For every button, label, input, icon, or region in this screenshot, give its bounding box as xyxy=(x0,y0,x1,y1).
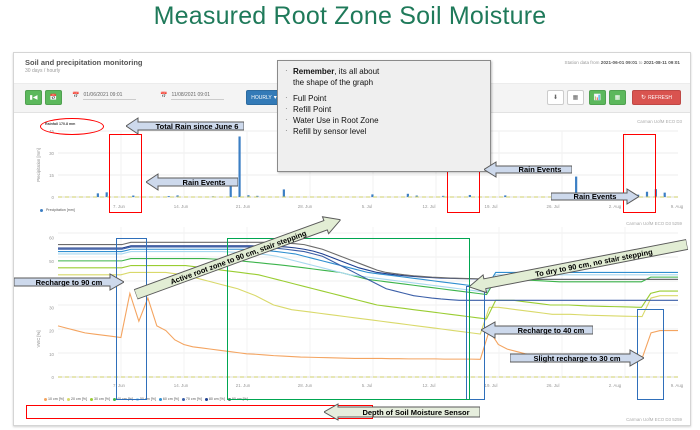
table-icon: ▦ xyxy=(573,95,579,101)
station-data-range: Station data from 2021-06-01 09:01 to 20… xyxy=(565,60,680,65)
legend-item[interactable]: 40 cm [%] xyxy=(113,397,133,401)
legend-item[interactable]: 90 cm [%] xyxy=(228,397,248,401)
legend-item-label: 80 cm [%] xyxy=(209,397,225,401)
precip-xtick: 9. Aug xyxy=(671,204,684,209)
precip-bar xyxy=(97,193,99,197)
vwc-xtick: 21. Jun xyxy=(236,383,251,388)
legend-item-label: 30 cm [%] xyxy=(94,397,110,401)
skip-back-icon: ▮◀ xyxy=(30,95,38,101)
grid-icon: ▦ xyxy=(615,95,621,101)
precip-xtick: 21. Jun xyxy=(236,204,251,209)
legend-item-label: 20 cm [%] xyxy=(71,397,87,401)
vwc-axis-label: VWC [%] xyxy=(36,331,41,348)
refresh-icon: ↻ xyxy=(641,95,646,101)
precip-xtick: 14. Jun xyxy=(174,204,189,209)
refresh-label: REFRESH xyxy=(648,95,672,101)
precip-xtick: 19. Jul xyxy=(485,204,498,209)
legend-item[interactable]: 20 cm [%] xyxy=(67,397,87,401)
vwc-xtick: 14. Jun xyxy=(174,383,189,388)
calendar-icon: 📅 xyxy=(50,95,57,101)
vwc-xtick: 2. Aug xyxy=(609,383,622,388)
vwc-watermark-top: Carman UofM ECO D3 5259 xyxy=(626,221,682,226)
interval-label: HOURLY xyxy=(251,95,271,101)
precip-bar xyxy=(106,192,108,197)
start-date-field[interactable]: 📅 01/06/2021 09:01 xyxy=(72,92,136,100)
precip-xtick: 2. Aug xyxy=(609,204,622,209)
station-prefix: Station data from xyxy=(565,60,600,65)
download-icon: ⬇ xyxy=(553,95,558,101)
station-from: 2021-06-01 09:01 xyxy=(601,60,638,65)
vwc-xtick: 28. Jun xyxy=(298,383,313,388)
legend-color-dot xyxy=(205,398,208,401)
station-to: 2021-08-11 09:01 xyxy=(644,60,680,65)
precip-legend: Precipitation [mm] xyxy=(40,208,75,212)
precip-xtick: 7. Jun xyxy=(113,204,126,209)
vwc-line xyxy=(58,266,678,319)
precip-xticks: 7. Jun14. Jun21. Jun28. Jun5. Jul12. Jul… xyxy=(113,204,684,209)
legend-item[interactable]: 60 cm [%] xyxy=(159,397,179,401)
precipitation-chart: Carman UofM ECO D3 xyxy=(14,113,690,219)
legend-item[interactable]: 80 cm [%] xyxy=(205,397,225,401)
vwc-line xyxy=(58,242,678,279)
app-subtitle: 30 days / hourly xyxy=(25,68,60,74)
legend-item-label: 40 cm [%] xyxy=(117,397,133,401)
vwc-ytick: 40 xyxy=(49,282,54,287)
end-date-field[interactable]: 📅 11/08/2021 09:01 xyxy=(160,92,224,100)
precip-bar xyxy=(283,189,285,197)
precip-legend-dot xyxy=(40,209,43,212)
precip-bar xyxy=(664,193,666,197)
precip-xtick: 26. Jul xyxy=(547,204,560,209)
calendar-small-icon-2: 📅 xyxy=(160,93,167,99)
soil-moisture-chart: Carman UofM ECO D3 5259 Carman UofM ECO … xyxy=(14,219,690,424)
grid-view-button[interactable]: ▦ xyxy=(609,90,626,105)
legend-color-dot xyxy=(113,398,116,401)
precip-watermark: Carman UofM ECO D3 xyxy=(637,119,682,124)
chevron-down-icon: ▾ xyxy=(274,95,277,101)
vwc-xticks: 7. Jun14. Jun21. Jun28. Jun5. Jul12. Jul… xyxy=(113,383,684,388)
legend-color-dot xyxy=(136,398,139,401)
precip-xtick: 5. Jul xyxy=(362,204,373,209)
precip-bar xyxy=(238,136,240,197)
vwc-yticks: 0102030405060 xyxy=(49,236,54,380)
precip-bar xyxy=(469,195,471,197)
svg-text:15: 15 xyxy=(49,173,54,178)
legend-color-dot xyxy=(44,398,47,401)
vwc-legend: 10 cm [%]20 cm [%]30 cm [%]40 cm [%]50 c… xyxy=(44,397,248,401)
svg-text:30: 30 xyxy=(49,151,54,156)
precip-xtick: 28. Jun xyxy=(298,204,313,209)
vwc-xtick: 19. Jul xyxy=(485,383,498,388)
page-title: Measured Root Zone Soil Moisture xyxy=(0,2,700,31)
precip-bar xyxy=(168,196,170,197)
legend-item-label: 60 cm [%] xyxy=(163,397,179,401)
refresh-button[interactable]: ↻ REFRESH xyxy=(632,90,681,105)
vwc-ytick: 30 xyxy=(49,305,54,310)
precip-bar xyxy=(646,192,648,197)
station-mid: to xyxy=(639,60,643,65)
legend-color-dot xyxy=(159,398,162,401)
legend-color-dot xyxy=(228,398,231,401)
legend-item[interactable]: 70 cm [%] xyxy=(182,397,202,401)
vwc-line xyxy=(58,259,678,295)
vwc-ytick: 10 xyxy=(49,352,54,357)
svg-text:Precipitation [mm]: Precipitation [mm] xyxy=(36,148,41,182)
vwc-line xyxy=(58,293,678,359)
vwc-xtick: 7. Jun xyxy=(113,383,126,388)
precip-bars xyxy=(97,136,666,197)
vwc-line xyxy=(58,252,678,293)
app-window: Soil and precipitation monitoring 30 day… xyxy=(13,52,691,426)
table-view-button[interactable]: ▦ xyxy=(567,90,584,105)
app-header: Soil and precipitation monitoring 30 day… xyxy=(14,53,690,84)
legend-color-dot xyxy=(90,398,93,401)
legend-item-label: 70 cm [%] xyxy=(186,397,202,401)
vwc-ytick: 20 xyxy=(49,329,54,334)
app-title: Soil and precipitation monitoring xyxy=(25,58,143,67)
end-date-value: 11/08/2021 09:01 xyxy=(171,92,224,100)
precip-bar xyxy=(132,196,134,197)
vwc-xtick: 26. Jul xyxy=(547,383,560,388)
vwc-series xyxy=(58,242,678,359)
precip-yticks: 45 30 15 0 Precipitation [mm] xyxy=(36,129,55,200)
vwc-line xyxy=(58,247,678,300)
precip-svg: 45 30 15 0 Precipitation [mm] 7. Jun14. … xyxy=(14,113,690,219)
vwc-ytick: 50 xyxy=(49,259,54,264)
jump-start-button[interactable]: ▮◀ xyxy=(25,90,42,105)
vwc-watermark-bottom: Carman UofM ECO D3 5259 xyxy=(626,417,682,422)
legend-item-label: 90 cm [%] xyxy=(232,397,248,401)
precip-xtick: 12. Jul xyxy=(423,204,436,209)
toolbar: ▮◀ 📅 📅 01/06/2021 09:01 📅 11/08/2021 09:… xyxy=(14,84,690,113)
download-button[interactable]: ⬇ xyxy=(547,90,564,105)
precip-bar xyxy=(655,189,657,197)
vwc-ytick: 0 xyxy=(52,375,55,380)
svg-text:0: 0 xyxy=(52,195,55,200)
precip-bar xyxy=(637,195,639,197)
legend-item-label: 50 cm [%] xyxy=(140,397,156,401)
bar-chart-icon: 📊 xyxy=(594,95,601,101)
legend-color-dot xyxy=(67,398,70,401)
calendar-small-icon: 📅 xyxy=(72,93,79,99)
calendar-range-button[interactable]: 📅 xyxy=(45,90,62,105)
slide: Measured Root Zone Soil Moisture Soil an… xyxy=(0,0,700,430)
legend-item[interactable]: 30 cm [%] xyxy=(90,397,110,401)
vwc-svg: 0102030405060 VWC [%] 7. Jun14. Jun21. J… xyxy=(14,219,690,424)
precip-gridlines xyxy=(58,131,678,197)
vwc-ytick: 60 xyxy=(49,236,54,241)
svg-text:45: 45 xyxy=(49,129,54,134)
legend-item[interactable]: 50 cm [%] xyxy=(136,397,156,401)
precip-legend-label: Precipitation [mm] xyxy=(46,208,75,212)
chart-view-button[interactable]: 📊 xyxy=(589,90,606,105)
vwc-xtick: 12. Jul xyxy=(423,383,436,388)
precip-bar xyxy=(575,177,577,197)
precip-bar xyxy=(230,182,232,197)
legend-color-dot xyxy=(182,398,185,401)
interval-dropdown[interactable]: HOURLY ▾ xyxy=(246,90,282,105)
vwc-xtick: 5. Jul xyxy=(362,383,373,388)
legend-item[interactable]: 10 cm [%] xyxy=(44,397,64,401)
legend-item-label: 10 cm [%] xyxy=(48,397,64,401)
vwc-xtick: 9. Aug xyxy=(671,383,684,388)
start-date-value: 01/06/2021 09:01 xyxy=(83,92,136,100)
